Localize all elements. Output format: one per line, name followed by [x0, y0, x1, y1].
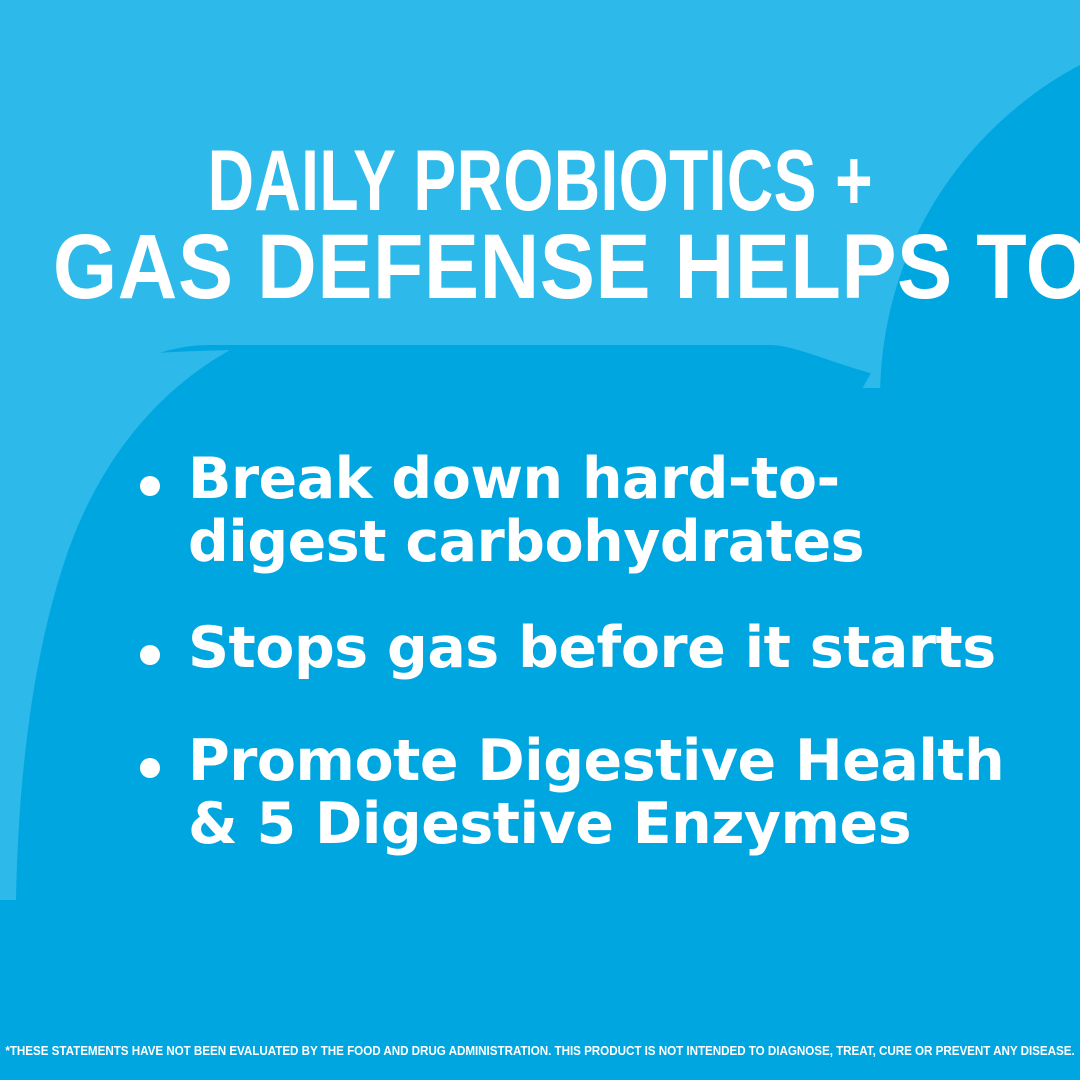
legal-disclaimer: *THESE STATEMENTS HAVE NOT BEEN EVALUATE…: [5, 1044, 1074, 1058]
headline: DAILY PROBIOTICS + GAS DEFENSE HELPS TO:…: [65, 140, 1015, 313]
bullet-dot-icon: [140, 476, 160, 496]
promo-graphic: DAILY PROBIOTICS + GAS DEFENSE HELPS TO:…: [0, 0, 1080, 1080]
benefit-text-2: Stops gas before it starts: [188, 617, 1020, 680]
list-item: Stops gas before it starts: [140, 617, 1020, 680]
benefit-text-1: Break down hard-to- digest carbohydrates: [188, 448, 1020, 573]
list-item: Promote Digestive Health & 5 Digestive E…: [140, 730, 1020, 855]
list-item: Break down hard-to- digest carbohydrates: [140, 448, 1020, 573]
headline-line-2: GAS DEFENSE HELPS TO:*: [53, 223, 1080, 312]
bullet-dot-icon: [140, 758, 160, 778]
headline-line-1: DAILY PROBIOTICS +: [207, 140, 872, 223]
bullet-dot-icon: [140, 645, 160, 665]
benefit-text-3: Promote Digestive Health & 5 Digestive E…: [188, 730, 1020, 855]
benefits-list: Break down hard-to- digest carbohydrates…: [140, 448, 1020, 855]
